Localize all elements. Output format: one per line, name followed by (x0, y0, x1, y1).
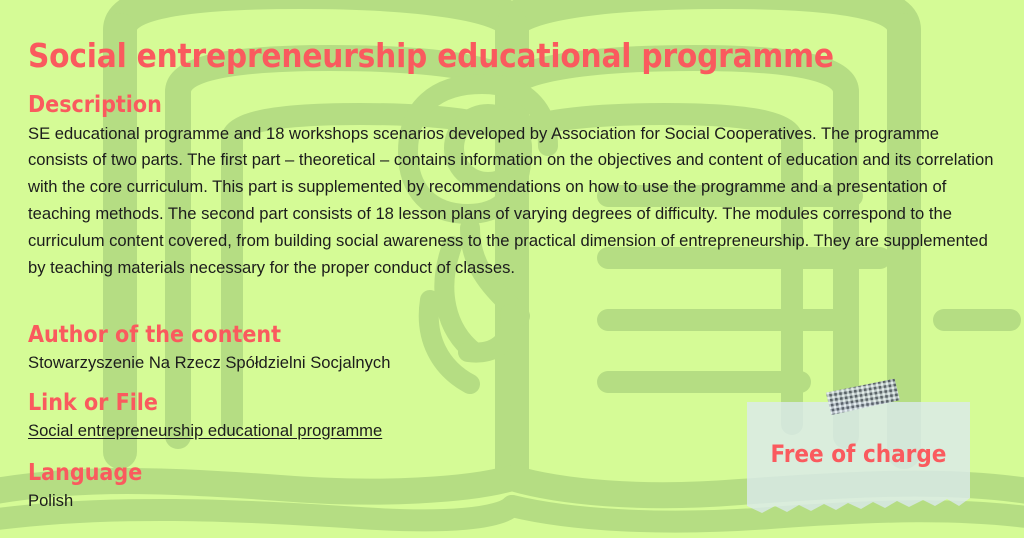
free-of-charge-badge: Free of charge (747, 402, 970, 514)
language-heading: Language (28, 460, 142, 488)
language-value: Polish (28, 489, 142, 513)
author-value: Stowarzyszenie Na Rzecz Spółdzielni Socj… (28, 351, 390, 375)
section-author: Author of the content Stowarzyszenie Na … (28, 322, 390, 375)
free-of-charge-label: Free of charge (747, 440, 970, 468)
section-link: Link or File Social entrepreneurship edu… (28, 390, 382, 443)
page-title: Social entrepreneurship educational prog… (28, 38, 834, 74)
description-text: SE educational programme and 18 workshop… (28, 121, 1003, 282)
section-language: Language Polish (28, 460, 142, 513)
resource-link[interactable]: Social entrepreneurship educational prog… (28, 419, 382, 443)
author-heading: Author of the content (28, 322, 390, 350)
section-description: Description SE educational programme and… (28, 92, 1003, 281)
resource-card: Social entrepreneurship educational prog… (0, 0, 1024, 538)
description-heading: Description (28, 92, 1003, 120)
link-heading: Link or File (28, 390, 382, 418)
